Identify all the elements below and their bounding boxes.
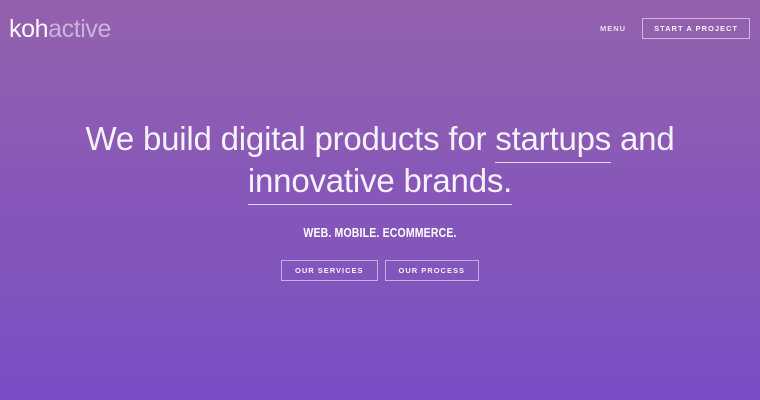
menu-toggle-button[interactable]: MENU <box>598 20 628 37</box>
our-services-button[interactable]: OUR SERVICES <box>281 260 378 281</box>
start-a-project-button[interactable]: START A PROJECT <box>642 18 750 39</box>
hero-section: We build digital products for startups a… <box>0 118 760 281</box>
hero-action-buttons: OUR SERVICES OUR PROCESS <box>40 260 720 281</box>
hero-tagline: WEB. MOBILE. ECOMMERCE. <box>94 226 665 240</box>
headline-segment-one: We build digital products for <box>85 120 495 157</box>
headline-segment-two: and <box>611 120 674 157</box>
page-root: { "header": { "logo": { "part_one": "koh… <box>0 0 760 400</box>
site-logo[interactable]: kohactive <box>9 15 111 42</box>
logo-text-primary: koh <box>9 15 48 43</box>
our-process-button[interactable]: OUR PROCESS <box>385 260 479 281</box>
logo-text-secondary: active <box>48 15 111 43</box>
header-actions: MENU START A PROJECT <box>598 18 751 39</box>
headline-highlight-startups: startups <box>495 120 611 163</box>
hero-headline: We build digital products for startups a… <box>70 118 690 202</box>
site-header: kohactive MENU START A PROJECT <box>0 0 760 56</box>
headline-highlight-innovative-brands: innovative brands. <box>248 162 512 205</box>
